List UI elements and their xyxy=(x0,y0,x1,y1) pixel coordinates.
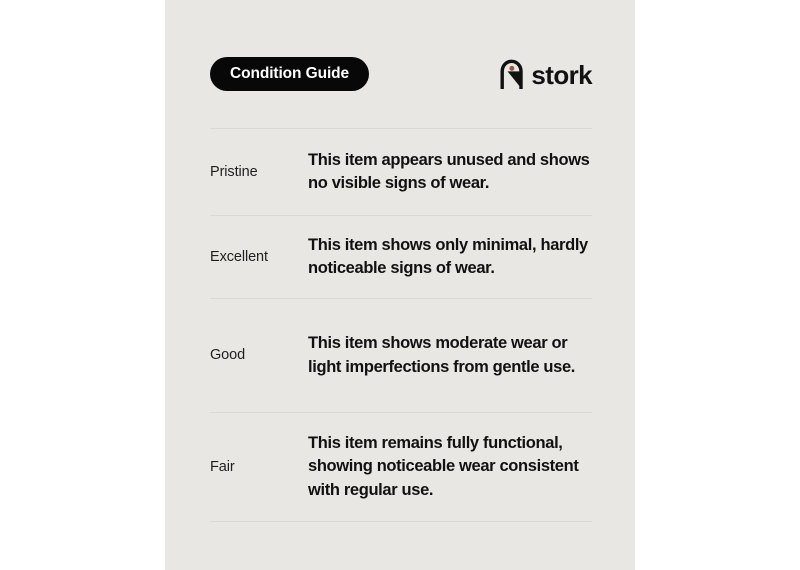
condition-label: Good xyxy=(210,346,308,365)
condition-description: This item shows moderate wear or light i… xyxy=(308,332,592,379)
table-row: Fair This item remains fully functional,… xyxy=(210,413,592,521)
condition-table: Pristine This item appears unused and sh… xyxy=(210,128,592,522)
table-divider-bottom xyxy=(210,521,592,522)
stork-arch-icon xyxy=(499,59,524,89)
condition-label: Excellent xyxy=(210,248,308,267)
brand-lockup: stork xyxy=(499,56,592,92)
condition-description: This item remains fully functional, show… xyxy=(308,432,592,502)
condition-guide-pill: Condition Guide xyxy=(210,57,369,91)
condition-description: This item shows only minimal, hardly not… xyxy=(308,234,592,281)
brand-wordmark: stork xyxy=(531,62,592,88)
condition-label: Pristine xyxy=(210,163,308,182)
table-row: Excellent This item shows only minimal, … xyxy=(210,216,592,298)
card-header: Condition Guide stork xyxy=(210,57,592,91)
page-root: Condition Guide stork Pristine This item… xyxy=(0,0,800,570)
condition-label: Fair xyxy=(210,458,308,477)
condition-description: This item appears unused and shows no vi… xyxy=(308,149,592,196)
table-row: Pristine This item appears unused and sh… xyxy=(210,129,592,215)
condition-guide-card: Condition Guide stork Pristine This item… xyxy=(165,0,635,570)
table-row: Good This item shows moderate wear or li… xyxy=(210,299,592,412)
